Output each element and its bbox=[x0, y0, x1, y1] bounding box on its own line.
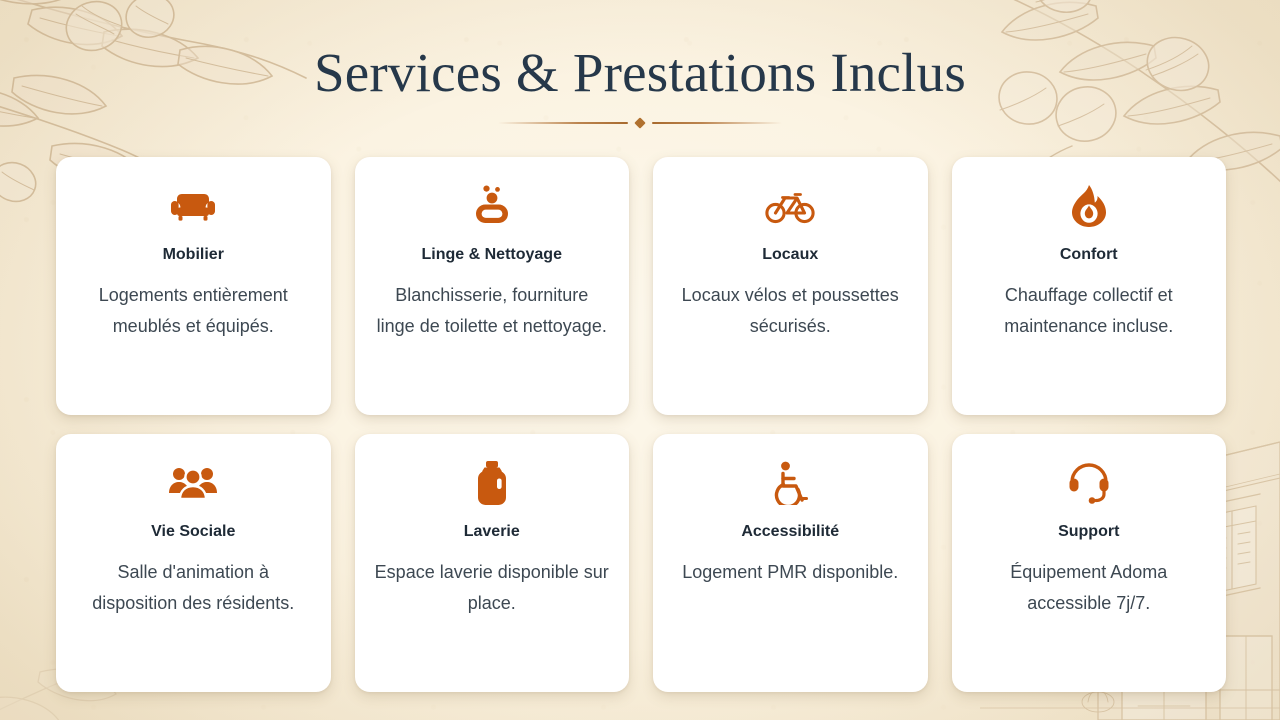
service-card-description: Logements entièrement meublés et équipés… bbox=[76, 280, 311, 342]
service-card-mobilier[interactable]: Mobilier Logements entièrement meublés e… bbox=[56, 157, 331, 415]
people-group-icon bbox=[169, 460, 217, 506]
service-card-title: Mobilier bbox=[163, 245, 224, 264]
service-card-description: Logement PMR disponible. bbox=[682, 557, 898, 588]
service-card-vie-sociale[interactable]: Vie Sociale Salle d'animation à disposit… bbox=[56, 434, 331, 692]
bicycle-icon bbox=[765, 183, 815, 229]
divider-bar-right bbox=[652, 122, 782, 124]
service-card-accessibilite[interactable]: Accessibilité Logement PMR disponible. bbox=[653, 434, 928, 692]
divider-diamond-icon bbox=[634, 117, 645, 128]
service-card-description: Chauffage collectif et maintenance inclu… bbox=[972, 280, 1207, 342]
service-card-title: Vie Sociale bbox=[151, 522, 235, 541]
service-card-confort[interactable]: Confort Chauffage collectif et maintenan… bbox=[952, 157, 1227, 415]
service-card-title: Confort bbox=[1060, 245, 1118, 264]
services-card-grid: Mobilier Logements entièrement meublés e… bbox=[56, 157, 1226, 692]
service-card-description: Équipement Adoma accessible 7j/7. bbox=[972, 557, 1207, 619]
service-card-title: Linge & Nettoyage bbox=[422, 245, 562, 264]
detergent-bottle-icon bbox=[476, 460, 508, 506]
service-card-description: Locaux vélos et poussettes sécurisés. bbox=[673, 280, 908, 342]
slide-canvas: Services & Prestations Inclus Mobilier bbox=[0, 0, 1280, 720]
service-card-title: Locaux bbox=[762, 245, 818, 264]
service-card-title: Laverie bbox=[464, 522, 520, 541]
service-card-title: Accessibilité bbox=[741, 522, 839, 541]
title-divider-ornament bbox=[490, 116, 790, 130]
title-block: Services & Prestations Inclus bbox=[0, 44, 1280, 130]
divider-bar-left bbox=[498, 122, 628, 124]
service-card-description: Espace laverie disponible sur place. bbox=[375, 557, 610, 619]
couch-icon bbox=[171, 183, 215, 229]
service-card-laverie[interactable]: Laverie Espace laverie disponible sur pl… bbox=[355, 434, 630, 692]
service-card-support[interactable]: Support Équipement Adoma accessible 7j/7… bbox=[952, 434, 1227, 692]
wheelchair-icon bbox=[771, 460, 809, 506]
flame-icon bbox=[1072, 183, 1106, 229]
soap-icon bbox=[473, 183, 511, 229]
service-card-description: Blanchisserie, fourniture linge de toile… bbox=[375, 280, 610, 342]
service-card-locaux[interactable]: Locaux Locaux vélos et poussettes sécuri… bbox=[653, 157, 928, 415]
service-card-description: Salle d'animation à disposition des rési… bbox=[76, 557, 311, 619]
service-card-linge-nettoyage[interactable]: Linge & Nettoyage Blanchisserie, fournit… bbox=[355, 157, 630, 415]
service-card-title: Support bbox=[1058, 522, 1119, 541]
headset-icon bbox=[1068, 460, 1110, 506]
page-title: Services & Prestations Inclus bbox=[0, 44, 1280, 102]
